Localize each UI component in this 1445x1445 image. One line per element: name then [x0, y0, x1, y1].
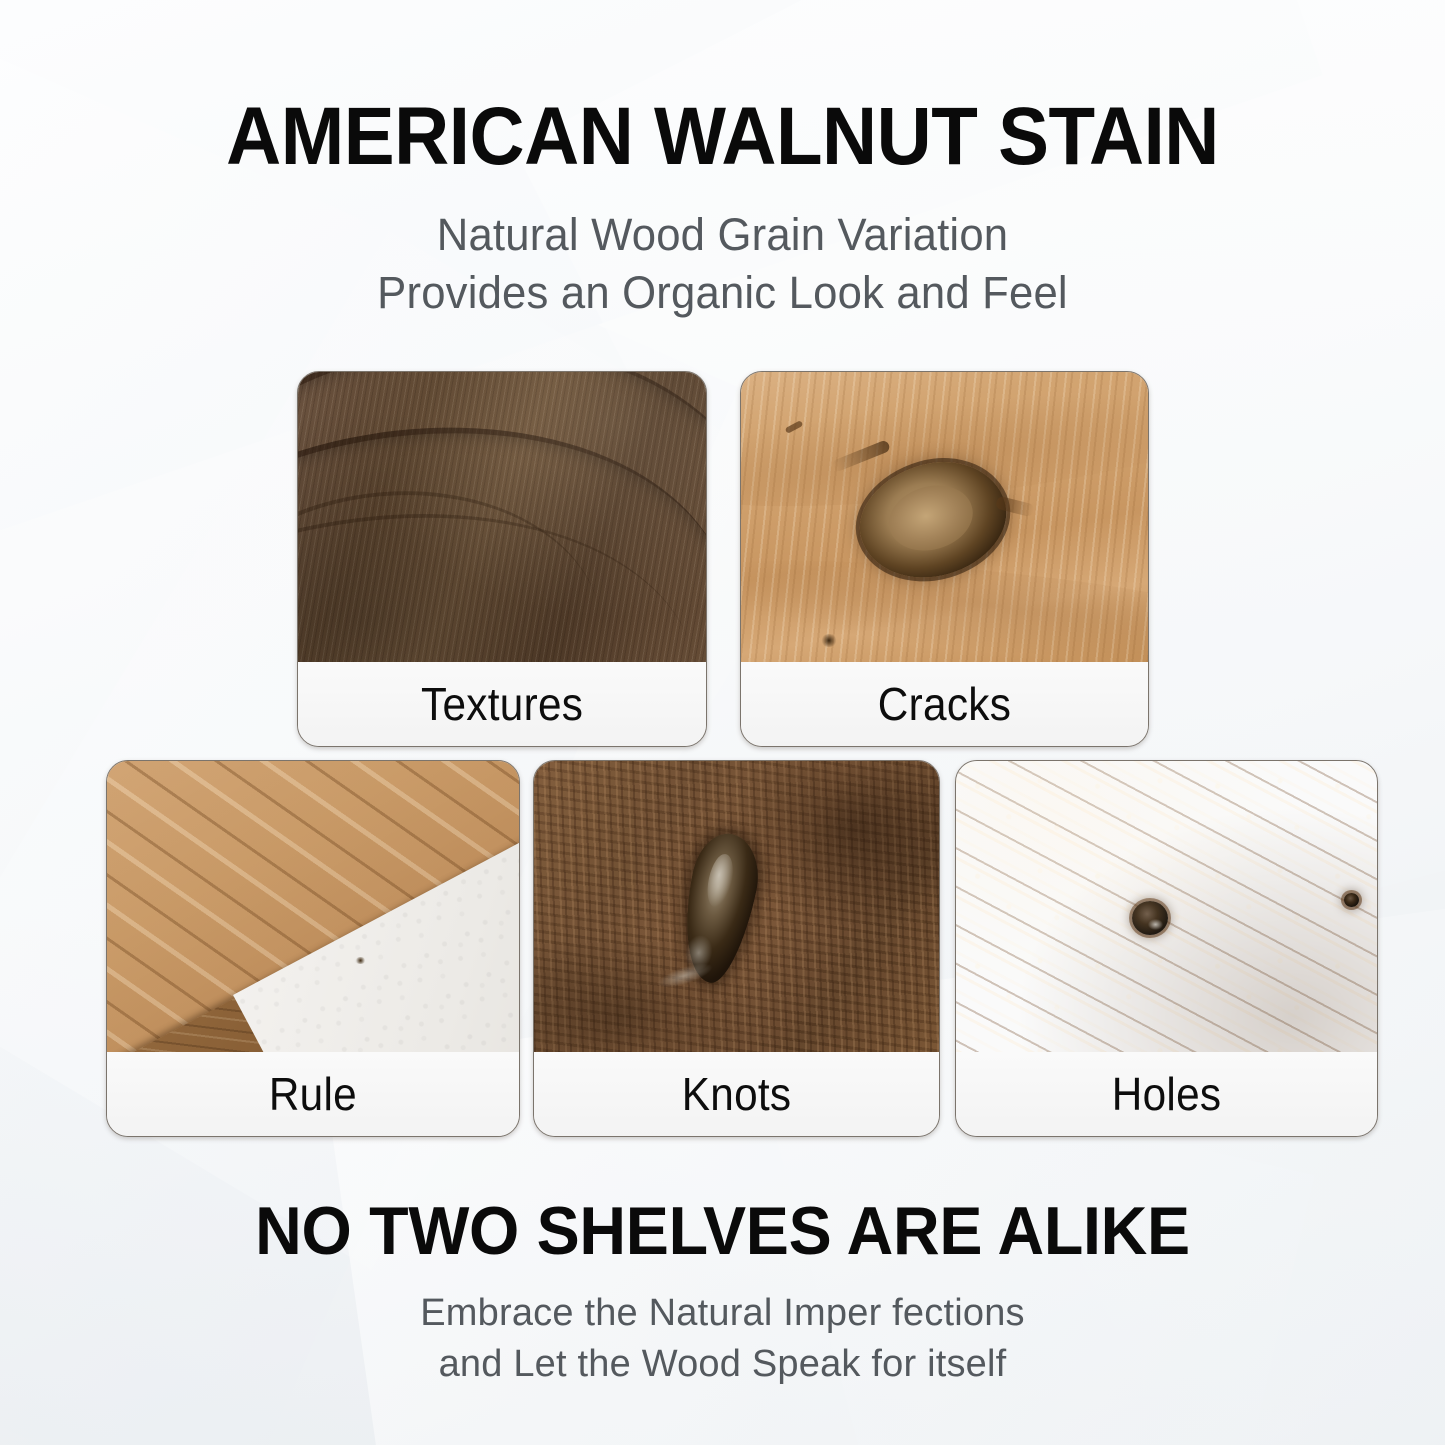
infographic-canvas: AMERICAN WALNUT STAIN Natural Wood Grain… — [0, 0, 1445, 1445]
page-title: AMERICAN WALNUT STAIN — [51, 96, 1395, 178]
knots-label-band: Knots — [534, 1052, 939, 1136]
page-subtitle-line-1: Natural Wood Grain Variation — [22, 206, 1424, 264]
rule-photo — [107, 761, 519, 1052]
knots-photo — [534, 761, 939, 1052]
page-subtitle: Natural Wood Grain Variation Provides an… — [22, 206, 1424, 321]
holes-photo — [956, 761, 1377, 1052]
footer-subtitle: Embrace the Natural Imper fections and L… — [0, 1288, 1445, 1389]
card-label-rule: Rule — [269, 1067, 357, 1121]
feature-card-knots[interactable]: Knots — [533, 760, 940, 1137]
feature-card-cracks[interactable]: Cracks — [740, 371, 1149, 747]
feature-card-textures[interactable]: Textures — [297, 371, 707, 747]
cracks-label-band: Cracks — [741, 662, 1148, 746]
footer-subtitle-line-1: Embrace the Natural Imper fections — [0, 1288, 1445, 1339]
feature-card-rule[interactable]: Rule — [106, 760, 520, 1137]
holes-label-band: Holes — [956, 1052, 1377, 1136]
card-label-textures: Textures — [421, 677, 583, 731]
card-label-holes: Holes — [1112, 1067, 1222, 1121]
rule-label-band: Rule — [107, 1052, 519, 1136]
feature-card-holes[interactable]: Holes — [955, 760, 1378, 1137]
card-label-cracks: Cracks — [878, 677, 1011, 731]
card-label-knots: Knots — [682, 1067, 792, 1121]
textures-label-band: Textures — [298, 662, 706, 746]
footer-headline: NO TWO SHELVES ARE ALIKE — [36, 1197, 1409, 1265]
page-subtitle-line-2: Provides an Organic Look and Feel — [22, 264, 1424, 322]
cracks-photo — [741, 372, 1148, 662]
textures-photo — [298, 372, 706, 662]
footer-subtitle-line-2: and Let the Wood Speak for itself — [0, 1339, 1445, 1390]
